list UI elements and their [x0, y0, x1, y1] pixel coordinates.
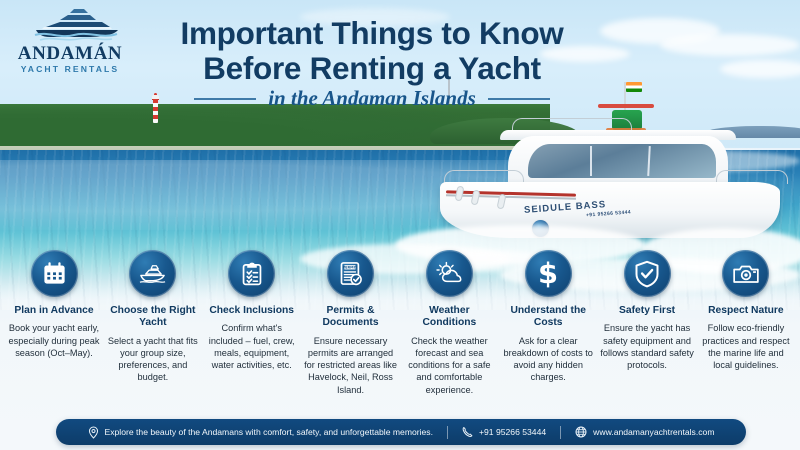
camera-icon	[732, 262, 760, 286]
phone-icon	[462, 426, 473, 438]
list-item[interactable]: Plan in Advance Book your yacht early, e…	[6, 250, 102, 359]
calendar-icon	[41, 260, 68, 287]
sun-cloud-icon	[435, 259, 464, 288]
footer-phone-cell[interactable]: +91 95266 53444	[462, 426, 546, 438]
wave-icon	[34, 32, 118, 42]
brand-tagline: YACHT RENTALS	[8, 64, 132, 74]
footer-bar: Explore the beauty of the Andamans with …	[56, 419, 746, 445]
list-item[interactable]: Safety First Ensure the yacht has safety…	[599, 250, 695, 371]
clipboard-check-icon	[239, 261, 265, 287]
item-description: Check the weather forecast and sea condi…	[401, 335, 497, 396]
icon-badge	[129, 250, 176, 297]
icon-badge: PERMIT	[327, 250, 374, 297]
item-title: Safety First	[599, 305, 695, 317]
list-item[interactable]: Weather Conditions Check the weather for…	[401, 250, 497, 396]
icon-badge	[624, 250, 671, 297]
icon-badge	[228, 250, 275, 297]
list-item[interactable]: $ Understand the Costs Ask for a clear b…	[500, 250, 596, 384]
item-description: Book your yacht early, especially during…	[6, 322, 102, 359]
tips-list: Plan in Advance Book your yacht early, e…	[6, 250, 794, 410]
item-description: Confirm what's included – fuel, crew, me…	[204, 322, 300, 371]
icon-badge	[722, 250, 769, 297]
icon-badge	[31, 250, 78, 297]
permit-document-icon: PERMIT	[337, 260, 364, 287]
item-title: Respect Nature	[698, 305, 794, 317]
list-item[interactable]: Check Inclusions Confirm what's included…	[204, 250, 300, 371]
india-flag-icon	[626, 82, 642, 92]
item-title: Plan in Advance	[6, 305, 102, 317]
cloud	[660, 34, 800, 56]
item-description: Follow eco-friendly practices and respec…	[698, 322, 794, 371]
infographic-poster: SEIDULE BASS +91 95266 53444 ANDAMÁN YAC…	[0, 0, 800, 450]
icon-badge	[426, 250, 473, 297]
shield-check-icon	[634, 260, 660, 288]
item-title: Check Inclusions	[204, 305, 300, 317]
globe-icon	[575, 426, 587, 438]
svg-text:PERMIT: PERMIT	[343, 266, 358, 270]
cloud	[720, 60, 800, 78]
list-item[interactable]: Choose the Right Yacht Select a yacht th…	[105, 250, 201, 384]
item-title: Choose the Right Yacht	[105, 305, 201, 330]
page-title: Important Things to Know Before Renting …	[132, 16, 612, 86]
icon-badge: $	[525, 250, 572, 297]
footer-tagline: Explore the beauty of the Andamans with …	[105, 427, 434, 437]
footer-tagline-cell: Explore the beauty of the Andamans with …	[88, 426, 434, 439]
brand-logo[interactable]: ANDAMÁN YACHT RENTALS	[8, 6, 132, 78]
list-item[interactable]: PERMIT Permits & Documents Ensure necess…	[303, 250, 399, 396]
brand-name: ANDAMÁN	[8, 44, 132, 64]
item-title: Understand the Costs	[500, 305, 596, 330]
item-description: Ensure the yacht has safety equipment an…	[599, 322, 695, 371]
item-description: Ask for a clear breakdown of costs to av…	[500, 335, 596, 384]
svg-text:$: $	[538, 259, 558, 289]
list-item[interactable]: Respect Nature Follow eco-friendly pract…	[698, 250, 794, 371]
item-title: Weather Conditions	[401, 305, 497, 330]
item-description: Select a yacht that fits your group size…	[105, 335, 201, 384]
rule-left	[194, 98, 256, 100]
footer-phone: +91 95266 53444	[479, 427, 546, 437]
title-line-1: Important Things to Know	[132, 16, 612, 51]
item-title: Permits & Documents	[303, 305, 399, 330]
item-description: Ensure necessary permits are arranged fo…	[303, 335, 399, 396]
rule-right	[488, 98, 550, 100]
dollar-sign-icon: $	[535, 259, 561, 289]
footer-website: www.andamanyachtrentals.com	[593, 427, 714, 437]
yacht-icon	[138, 259, 167, 288]
footer-divider	[560, 426, 561, 439]
page-subtitle: in the Andaman Islands	[268, 86, 476, 111]
location-pin-icon	[88, 426, 99, 439]
subtitle-row: in the Andaman Islands	[132, 86, 612, 111]
footer-divider	[447, 426, 448, 439]
footer-website-cell[interactable]: www.andamanyachtrentals.com	[575, 426, 714, 438]
title-line-2: Before Renting a Yacht	[132, 51, 612, 86]
